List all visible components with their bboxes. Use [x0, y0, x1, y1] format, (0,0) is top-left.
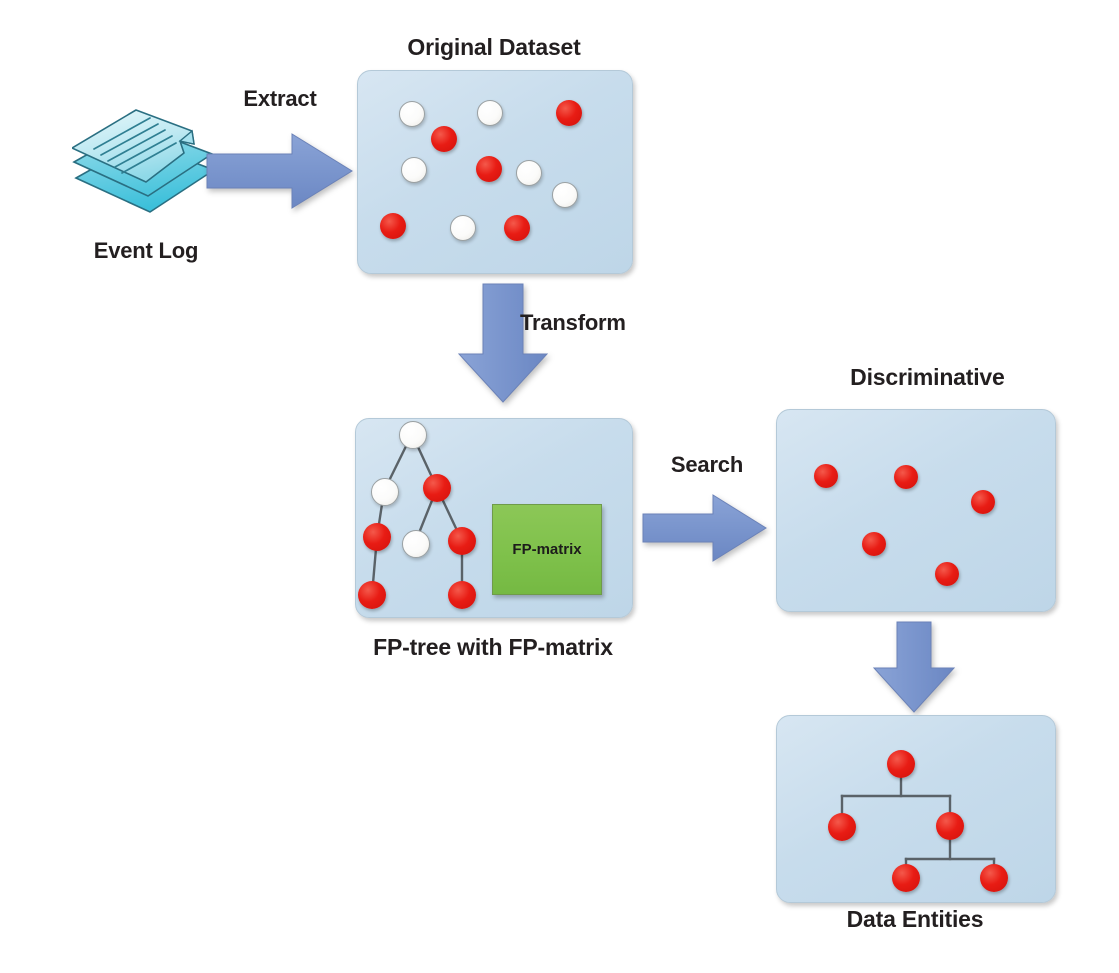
- fp-node-white: [402, 530, 430, 558]
- itemset-point: [814, 464, 838, 488]
- extract-arrow: [204, 131, 356, 211]
- fp-matrix-label: FP-matrix: [512, 541, 581, 558]
- data-point-red: [431, 126, 457, 152]
- original-dataset-label: Original Dataset: [357, 34, 631, 61]
- search-arrow: [641, 492, 769, 564]
- fp-tree-panel: FP-matrix: [355, 418, 633, 618]
- event-log-label: Event Log: [48, 238, 244, 264]
- original-dataset-panel: [357, 70, 633, 274]
- data-point-white: [401, 157, 427, 183]
- data-point-white: [450, 215, 476, 241]
- stacked-documents-icon: [72, 96, 220, 224]
- fp-node-red: [448, 581, 476, 609]
- data-point-red: [556, 100, 582, 126]
- fp-node-red: [358, 581, 386, 609]
- data-point-white: [399, 101, 425, 127]
- itemset-point: [862, 532, 886, 556]
- entity-node: [828, 813, 856, 841]
- fp-tree-caption: FP-tree with FP-matrix: [313, 634, 673, 661]
- entity-node: [980, 864, 1008, 892]
- data-point-white: [552, 182, 578, 208]
- transform-arrow: [453, 282, 553, 406]
- data-point-red: [504, 215, 530, 241]
- itemset-point: [935, 562, 959, 586]
- data-entities-panel: [776, 715, 1056, 903]
- transform-label: Transform: [520, 310, 720, 336]
- entity-node: [936, 812, 964, 840]
- itemset-point: [894, 465, 918, 489]
- fp-node-red: [423, 474, 451, 502]
- data-point-red: [476, 156, 502, 182]
- fp-matrix-box: FP-matrix: [492, 504, 602, 595]
- data-point-white: [477, 100, 503, 126]
- fp-node-root: [399, 421, 427, 449]
- data-point-red: [380, 213, 406, 239]
- diagram-canvas: Event Log Extract Original Dataset: [0, 0, 1119, 973]
- extract-label: Extract: [200, 86, 360, 112]
- search-label: Search: [637, 452, 777, 478]
- fp-node-white: [371, 478, 399, 506]
- discriminative-panel: [776, 409, 1056, 612]
- fp-node-red: [363, 523, 391, 551]
- entity-node: [887, 750, 915, 778]
- entities-arrow: [870, 620, 958, 716]
- discriminative-line-1: Discriminative: [850, 364, 1004, 390]
- data-point-white: [516, 160, 542, 186]
- fp-node-red: [448, 527, 476, 555]
- data-entities-label: Data Entities: [776, 906, 1054, 933]
- itemset-point: [971, 490, 995, 514]
- entity-node: [892, 864, 920, 892]
